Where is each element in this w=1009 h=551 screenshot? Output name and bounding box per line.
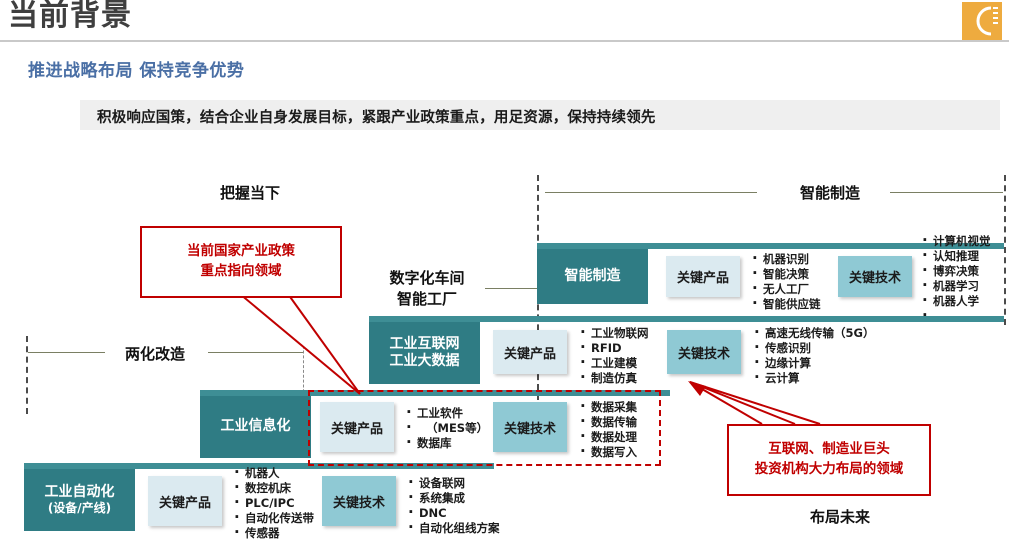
key-products-list-2: 工业物联网 RFID 工业建模 制造仿真 xyxy=(578,326,649,386)
list-item: 机器人学 xyxy=(920,294,991,309)
key-products-label-2: 关键产品 xyxy=(504,343,556,362)
row-head-label-2a: 工业互联网 xyxy=(390,336,460,354)
group-label-smart-manufacturing: 智能制造 xyxy=(770,182,890,203)
key-technologies-chip-4[interactable]: 关键技术 xyxy=(322,476,396,526)
row-head-industrial-internet: 工业互联网 工业大数据 xyxy=(369,322,480,384)
banner-text: 积极响应国策，结合企业自身发展目标，紧跟产业政策重点，用足资源，保持持续领先 xyxy=(97,106,656,127)
bracket-tick-two-modernizations-left xyxy=(26,336,28,414)
title-divider xyxy=(0,40,1009,42)
list-item: 机器学习 xyxy=(920,279,991,294)
key-technologies-chip-2[interactable]: 关键技术 xyxy=(667,330,741,374)
slide-canvas: 当前背景 推进战略布局 保持竞争优势 积极响应国策，结合企业自身发展目标，紧跟产… xyxy=(0,0,1009,551)
row-head-label-4a: 工业自动化 xyxy=(45,484,115,502)
list-item: 自动化组线方案 xyxy=(406,521,500,536)
callout-policy-focus: 当前国家产业政策 重点指向领域 xyxy=(140,226,342,298)
list-item: 博弈决策 xyxy=(920,264,991,279)
row-head-industrial-automation: 工业自动化 (设备/产线) xyxy=(24,469,135,531)
callout-investor-line-1: 互联网、制造业巨头 xyxy=(755,440,904,460)
list-item: 数控机床 xyxy=(232,481,314,496)
list-item: 工业建模 xyxy=(578,356,649,371)
list-item: 无人工厂 xyxy=(750,282,821,297)
callout-policy-line-1: 当前国家产业政策 xyxy=(187,242,295,262)
key-technologies-label-4: 关键技术 xyxy=(333,492,385,511)
list-item: 智能决策 xyxy=(750,267,821,282)
list-item: 智能供应链 xyxy=(750,297,821,312)
page-title: 当前背景 xyxy=(8,0,132,38)
banner-strip: 积极响应国策，结合企业自身发展目标，紧跟产业政策重点，用足资源，保持持续领先 xyxy=(80,100,1000,130)
list-item: 机器识别 xyxy=(750,252,821,267)
list-item: 设备联网 xyxy=(406,476,500,491)
bracket-line-smart-left xyxy=(545,192,757,193)
list-item: 传感器 xyxy=(232,526,314,541)
list-item: PLC/IPC xyxy=(232,496,314,511)
list-item: 制造仿真 xyxy=(578,371,649,386)
list-item: 工业物联网 xyxy=(578,326,649,341)
row-head-smart-manufacturing: 智能制造 xyxy=(537,249,648,304)
list-item: 边缘计算 xyxy=(752,356,874,371)
key-products-list-1: 机器识别 智能决策 无人工厂 智能供应链 xyxy=(750,252,821,312)
page-subtitle: 推进战略布局 保持竞争优势 xyxy=(28,56,244,81)
key-technologies-label-1: 关键技术 xyxy=(849,267,901,286)
group-label-two-modernizations: 两化改造 xyxy=(105,343,205,364)
group-label-digital-workshop: 数字化车间 智能工厂 xyxy=(372,268,482,310)
list-item: 机器人 xyxy=(232,466,314,481)
bracket-line-two-modernizations-left xyxy=(28,352,105,353)
policy-focus-highlight-box xyxy=(308,390,661,466)
list-item: 自动化传送带 xyxy=(232,511,314,526)
digital-workshop-line-1: 数字化车间 xyxy=(372,268,482,289)
list-item: 高速无线传输（5G） xyxy=(752,326,874,341)
row-head-label-3: 工业信息化 xyxy=(221,418,291,436)
row-head-industrial-informatization: 工业信息化 xyxy=(200,396,311,458)
callout-investor-line-2: 投资机构大力布局的领域 xyxy=(755,460,904,480)
key-technologies-list-2: 高速无线传输（5G） 传感识别 边缘计算 云计算 xyxy=(752,326,874,386)
callout-policy-line-2: 重点指向领域 xyxy=(187,262,295,282)
key-products-chip-2[interactable]: 关键产品 xyxy=(493,330,567,374)
crescent-logo-icon xyxy=(962,2,1002,40)
row-head-label-4b: (设备/产线) xyxy=(48,501,111,516)
list-item: 认知推理 xyxy=(920,249,991,264)
digital-workshop-line-2: 智能工厂 xyxy=(372,289,482,310)
list-item: 计算机视觉 xyxy=(920,234,991,249)
key-products-list-4: 机器人 数控机床 PLC/IPC 自动化传送带 传感器 xyxy=(232,466,314,541)
list-item: 系统集成 xyxy=(406,491,500,506)
key-products-label-4: 关键产品 xyxy=(159,492,211,511)
key-products-chip-4[interactable]: 关键产品 xyxy=(148,476,222,526)
key-technologies-label-2: 关键技术 xyxy=(678,343,730,362)
key-technologies-chip-1[interactable]: 关键技术 xyxy=(838,256,912,297)
key-technologies-list-1: 计算机视觉 认知推理 博弈决策 机器学习 机器人学 …… xyxy=(920,234,991,324)
bracket-line-smart-right xyxy=(890,192,1003,193)
row-head-label-1: 智能制造 xyxy=(565,268,621,286)
key-products-label-1: 关键产品 xyxy=(677,267,729,286)
group-label-present: 把握当下 xyxy=(190,182,310,203)
key-technologies-list-4: 设备联网 系统集成 DNC 自动化组线方案 xyxy=(406,476,500,536)
list-item: RFID xyxy=(578,341,649,356)
key-products-chip-1[interactable]: 关键产品 xyxy=(666,256,740,297)
bracket-line-digital-workshop xyxy=(485,288,537,289)
list-item: DNC xyxy=(406,506,500,521)
bracket-line-two-modernizations-right xyxy=(208,352,303,353)
bracket-tick-smart-right xyxy=(1004,175,1006,325)
group-label-future: 布局未来 xyxy=(780,506,900,527)
list-item: 云计算 xyxy=(752,371,874,386)
list-item: 传感识别 xyxy=(752,341,874,356)
callout-investor-focus: 互联网、制造业巨头 投资机构大力布局的领域 xyxy=(727,424,931,496)
row-head-label-2b: 工业大数据 xyxy=(390,353,460,371)
